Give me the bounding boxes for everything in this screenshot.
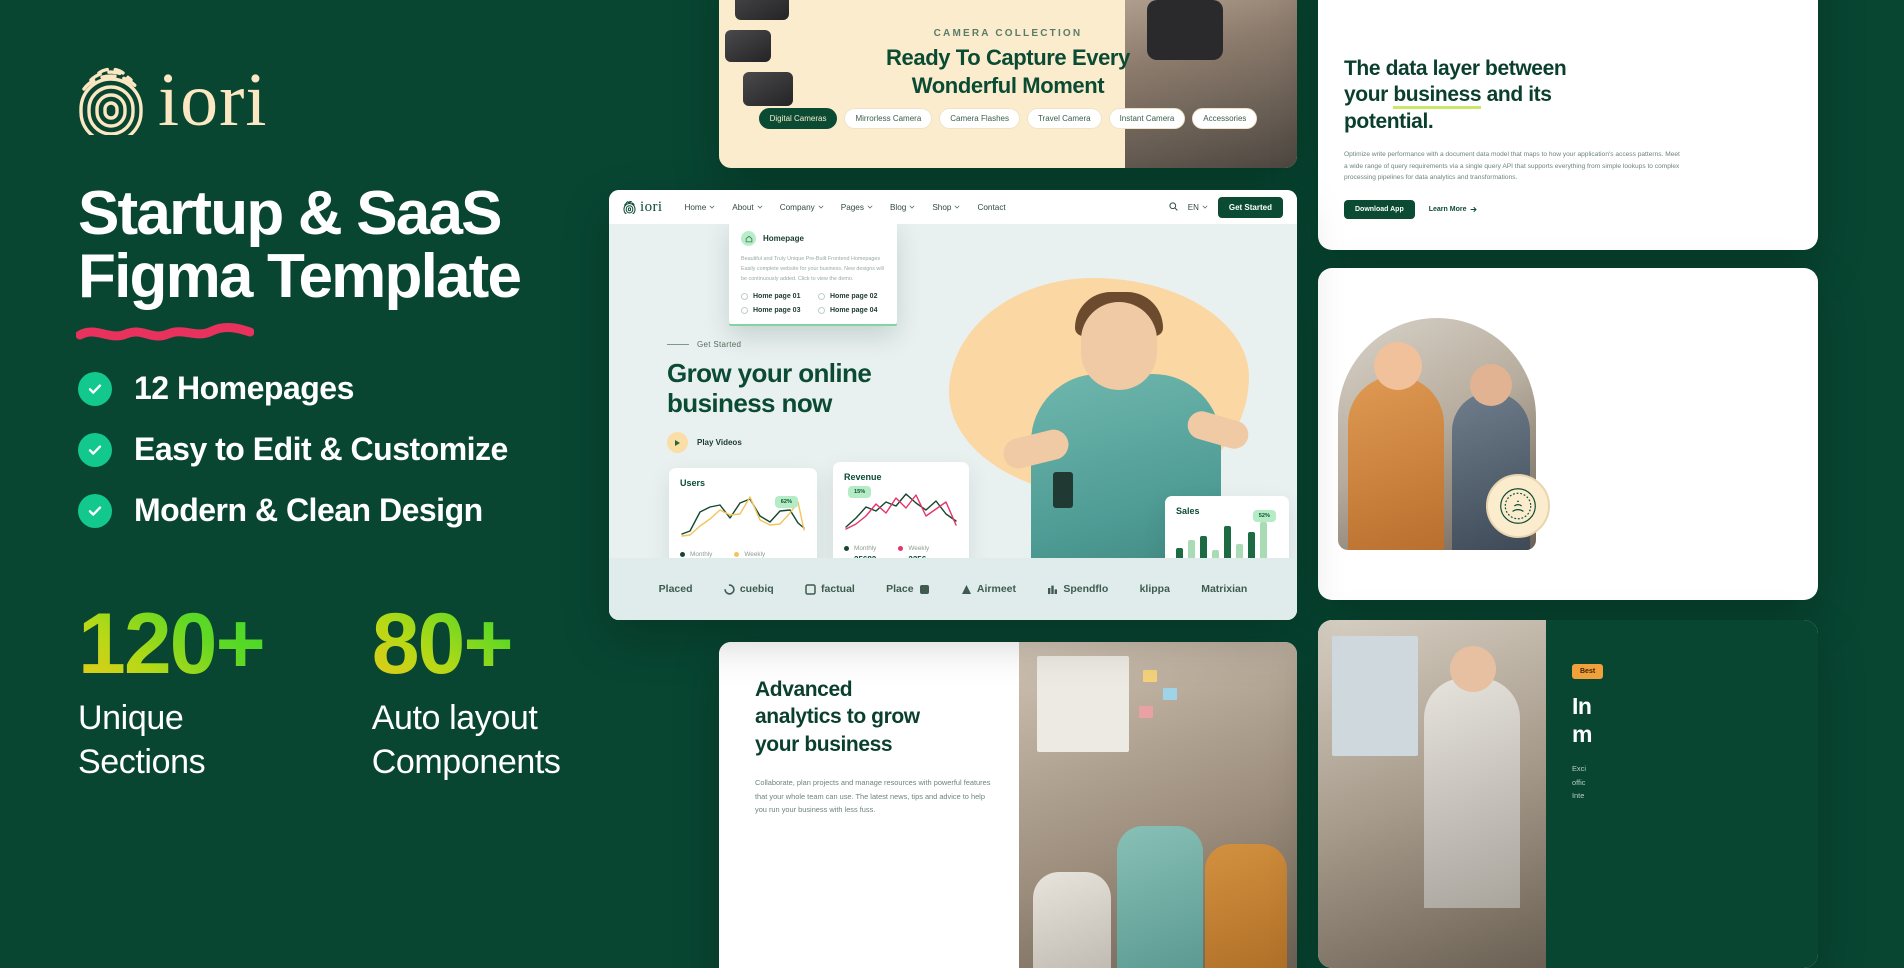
mockup-nav-actions: EN Get Started [1169, 197, 1283, 218]
feature-label: Modern & Clean Design [134, 492, 483, 529]
stat-label-line-2: Sections [78, 743, 205, 781]
chevron-down-icon [909, 205, 915, 209]
chip-accessories[interactable]: Accessories [1192, 108, 1257, 129]
partner-logo-klippa: klippa [1140, 583, 1170, 595]
main-template-preview[interactable]: iori Home About Company Pages Blog [609, 190, 1297, 620]
check-circle-icon [78, 433, 112, 467]
chip-camera-flashes[interactable]: Camera Flashes [939, 108, 1020, 129]
dropdown-header: Homepage [741, 231, 885, 246]
list-item: Easy to Edit & Customize [78, 431, 610, 468]
learn-more-label: Learn More [1429, 206, 1467, 213]
nav-label: Shop [932, 203, 951, 212]
stat-number: 120+ [78, 601, 264, 687]
feature-label: Easy to Edit & Customize [134, 431, 508, 468]
download-app-button[interactable]: Download App [1344, 200, 1415, 219]
place-badge-icon [919, 584, 930, 595]
hero-title-line-1: Grow your online [667, 358, 871, 388]
dropdown-link-home-page-04[interactable]: Home page 04 [818, 307, 885, 314]
analytics-title: Advanced analytics to grow your business [755, 676, 993, 758]
right-bottom-text-panel: Best In m Exci offic Inte [1546, 620, 1818, 968]
feature-list: 12 Homepages Easy to Edit & Customize Mo… [78, 370, 610, 529]
fingerprint-logo-icon [78, 65, 144, 135]
data-layer-title-highlight: business [1393, 83, 1481, 109]
fingerprint-logo-icon [623, 200, 636, 214]
partner-logo-matrixian: Matrixian [1201, 583, 1247, 595]
sticky-note [1163, 688, 1177, 700]
right-bottom-body-line-2: offic [1572, 778, 1585, 787]
dropdown-accent-bar [729, 324, 897, 326]
camera-collection-preview[interactable]: CAMERA COLLECTION Ready To Capture Every… [719, 0, 1297, 168]
airmeet-glyph-icon [961, 584, 972, 595]
dropdown-link-label: Home page 03 [753, 307, 800, 314]
nav-item-blog[interactable]: Blog [890, 203, 915, 212]
data-layer-actions: Download App Learn More [1344, 200, 1792, 219]
cuebiq-glyph-icon [724, 584, 735, 595]
page-title: Startup & SaaS Figma Template [78, 182, 610, 308]
users-percent-badge: 62% [775, 496, 798, 508]
partner-logo-factual: factual [805, 583, 855, 595]
headline-emphasis: Figma [78, 242, 252, 311]
status-badge: Best [1572, 664, 1603, 679]
chevron-down-icon [954, 205, 960, 209]
nav-label: About [732, 203, 753, 212]
team-photo-preview[interactable] [1318, 268, 1818, 600]
office-interior-preview[interactable]: Best In m Exci offic Inte [1318, 620, 1818, 968]
nav-label: Pages [841, 203, 864, 212]
stat-label-line-2: Components [372, 743, 561, 781]
stat-label: Unique Sections [78, 697, 264, 784]
legend-row: Weekly [898, 545, 929, 552]
stat-number: 80+ [372, 601, 561, 687]
headline-line-2: Figma Template [78, 245, 520, 308]
nav-item-pages[interactable]: Pages [841, 203, 873, 212]
analytics-body: Collaborate, plan projects and manage re… [755, 776, 993, 817]
legend-label: Weekly [744, 551, 765, 558]
right-bottom-body-line-1: Exci [1572, 764, 1586, 773]
chevron-down-icon [818, 205, 824, 209]
right-bottom-title: In m [1572, 693, 1792, 748]
legend-color-dot [844, 546, 849, 551]
sales-percent-badge: 52% [1253, 510, 1276, 522]
office-photo [1318, 620, 1546, 968]
sticky-note [1139, 706, 1153, 718]
office-team-photo [1019, 642, 1297, 968]
nav-label: Blog [890, 203, 906, 212]
camera-eyebrow: CAMERA COLLECTION [719, 28, 1297, 39]
award-seal-icon [1486, 474, 1550, 538]
nav-label: Company [780, 203, 815, 212]
right-bottom-body-line-3: Inte [1572, 791, 1584, 800]
eyebrow-rule [667, 344, 689, 345]
language-selector[interactable]: EN [1188, 203, 1208, 212]
list-item: Modern & Clean Design [78, 492, 610, 529]
revenue-percent-badge: 15% [848, 486, 871, 498]
brand-wordmark: iori [158, 62, 268, 138]
partner-label: Spendflo [1063, 583, 1108, 595]
bullet-icon [741, 293, 748, 300]
mockup-menu: Home About Company Pages Blog Shop [684, 203, 1005, 212]
dropdown-link-label: Home page 04 [830, 307, 877, 314]
play-icon [667, 432, 688, 453]
partner-logo-cuebiq: cuebiq [724, 583, 774, 595]
camera-title: Ready To Capture Every Wonderful Moment [719, 44, 1297, 99]
language-label: EN [1188, 203, 1199, 212]
partner-label: Place [886, 583, 913, 595]
partner-logo-strip: Placed cuebiq factual Place Airmeet Spen… [609, 558, 1297, 620]
sticky-note [1143, 670, 1157, 682]
analytics-title-line-2: analytics to grow [755, 705, 920, 728]
nav-item-contact[interactable]: Contact [977, 203, 1005, 212]
chip-digital-cameras[interactable]: Digital Cameras [759, 108, 838, 129]
stat-unique-sections: 120+ Unique Sections [78, 601, 264, 784]
partner-label: Airmeet [977, 583, 1016, 595]
data-layer-title-post: and its [1481, 83, 1551, 106]
camera-title-line-2: Wonderful Moment [912, 73, 1104, 98]
data-layer-preview[interactable]: The data layer between your business and… [1318, 0, 1818, 250]
stat-label-line-1: Unique [78, 699, 183, 737]
nav-item-about[interactable]: About [732, 203, 762, 212]
arrow-right-icon [1470, 206, 1477, 213]
dropdown-description: Beautiful and Truly Unique Pre-Built Fro… [741, 254, 885, 284]
chevron-down-icon [867, 205, 873, 209]
headline-rest: Template [252, 242, 521, 311]
home-icon [741, 231, 756, 246]
homepage-dropdown-menu[interactable]: Homepage Beautiful and Truly Unique Pre-… [729, 224, 897, 326]
window [1332, 636, 1418, 756]
analytics-text-column: Advanced analytics to grow your business… [719, 642, 1019, 968]
stats-row: 120+ Unique Sections 80+ Auto layout Com… [78, 601, 610, 784]
chip-instant-camera[interactable]: Instant Camera [1109, 108, 1186, 129]
dropdown-links: Home page 01 Home page 02 Home page 03 H… [741, 293, 885, 314]
hero-title: Grow your online business now [667, 358, 947, 419]
right-bottom-body: Exci offic Inte [1572, 762, 1792, 802]
dropdown-link-home-page-01[interactable]: Home page 01 [741, 293, 808, 300]
partner-label: Placed [659, 583, 693, 595]
nav-item-home[interactable]: Home [684, 203, 715, 212]
camera-title-line-1: Ready To Capture Every [886, 45, 1130, 70]
right-bottom-title-line-2: m [1572, 721, 1592, 747]
data-layer-title-pre: your [1344, 83, 1393, 106]
legend-color-dot [898, 546, 903, 551]
dropdown-link-label: Home page 02 [830, 293, 877, 300]
person-at-desk [1424, 678, 1520, 908]
analytics-title-line-3: your business [755, 733, 892, 756]
dropdown-title: Homepage [763, 234, 804, 243]
hero-eyebrow: Get Started [667, 340, 741, 349]
revenue-line-chart: 15% [844, 488, 958, 537]
factual-glyph-icon [805, 584, 816, 595]
person-phone [1053, 472, 1073, 508]
mockup-hero-body: Homepage Beautiful and Truly Unique Pre-… [609, 224, 1297, 620]
nav-label: Home [684, 203, 706, 212]
data-layer-title-line-1: The data layer between [1344, 57, 1566, 80]
bullet-icon [818, 293, 825, 300]
stat-label: Auto layout Components [372, 697, 561, 784]
play-video-button[interactable]: Play Videos [667, 432, 742, 453]
nav-label: Contact [977, 203, 1005, 212]
legend-label: Monthly [690, 551, 712, 558]
chevron-down-icon [757, 205, 763, 209]
get-started-button[interactable]: Get Started [1218, 197, 1283, 218]
search-icon[interactable] [1169, 198, 1178, 216]
chevron-down-icon [1202, 205, 1208, 209]
analytics-title-line-1: Advanced [755, 678, 852, 701]
legend-row: Monthly [844, 545, 876, 552]
mockup-logo-word: iori [640, 199, 662, 216]
person-center [1117, 826, 1203, 968]
dropdown-link-home-page-02[interactable]: Home page 02 [818, 293, 885, 300]
bullet-icon [741, 307, 748, 314]
legend-color-dot [680, 552, 685, 557]
hero-title-line-2: business now [667, 388, 832, 418]
person-left [1033, 872, 1111, 968]
chip-mirrorless-camera[interactable]: Mirrorless Camera [844, 108, 932, 129]
headline-line-1: Startup & SaaS [78, 179, 501, 248]
partner-logo-place: Place [886, 583, 929, 595]
promo-left-panel: iori Startup & SaaS Figma Template 12 Ho… [0, 0, 610, 968]
learn-more-link[interactable]: Learn More [1429, 206, 1478, 213]
mockup-navbar: iori Home About Company Pages Blog [609, 190, 1297, 224]
person-orange-sweater [1348, 376, 1444, 550]
stat-auto-layout-components: 80+ Auto layout Components [372, 601, 561, 784]
partner-logo-airmeet: Airmeet [961, 583, 1016, 595]
feature-label: 12 Homepages [134, 370, 354, 407]
partner-label: cuebiq [740, 583, 774, 595]
camera-category-chips: Digital Cameras Mirrorless Camera Camera… [719, 108, 1297, 129]
chevron-down-icon [709, 205, 715, 209]
bullet-icon [818, 307, 825, 314]
legend-row: Weekly [734, 551, 765, 558]
legend-label: Weekly [908, 545, 929, 552]
legend-color-dot [734, 552, 739, 557]
spendflo-glyph-icon [1047, 584, 1058, 595]
data-layer-title: The data layer between your business and… [1344, 56, 1792, 135]
data-layer-title-line-3: potential. [1344, 110, 1433, 133]
partner-label: Matrixian [1201, 583, 1247, 595]
list-item: 12 Homepages [78, 370, 610, 407]
check-circle-icon [78, 494, 112, 528]
person-head [1081, 302, 1157, 390]
partner-logo-spendflo: Spendflo [1047, 583, 1108, 595]
whiteboard [1037, 656, 1129, 752]
nav-item-shop[interactable]: Shop [932, 203, 960, 212]
partner-logo-placed: Placed [659, 583, 693, 595]
partner-label: klippa [1140, 583, 1170, 595]
legend-row: Monthly [680, 551, 712, 558]
card-title: Revenue [844, 472, 958, 482]
dropdown-link-home-page-03[interactable]: Home page 03 [741, 307, 808, 314]
person-right [1205, 844, 1287, 968]
stat-label-line-1: Auto layout [372, 699, 538, 737]
play-video-label: Play Videos [697, 438, 742, 447]
users-line-chart: 62% [680, 494, 806, 543]
card-title: Users [680, 478, 806, 488]
dropdown-link-label: Home page 01 [753, 293, 800, 300]
partner-label: factual [821, 583, 855, 595]
legend-label: Monthly [854, 545, 876, 552]
chip-travel-camera[interactable]: Travel Camera [1027, 108, 1102, 129]
nav-item-company[interactable]: Company [780, 203, 824, 212]
mockup-logo[interactable]: iori [623, 199, 662, 216]
brand-lockup: iori [78, 58, 610, 142]
data-layer-body: Optimize write performance with a docume… [1344, 149, 1684, 184]
right-bottom-title-line-1: In [1572, 693, 1591, 719]
check-circle-icon [78, 372, 112, 406]
eyebrow-label: Get Started [697, 340, 741, 349]
advanced-analytics-preview[interactable]: Advanced analytics to grow your business… [719, 642, 1297, 968]
